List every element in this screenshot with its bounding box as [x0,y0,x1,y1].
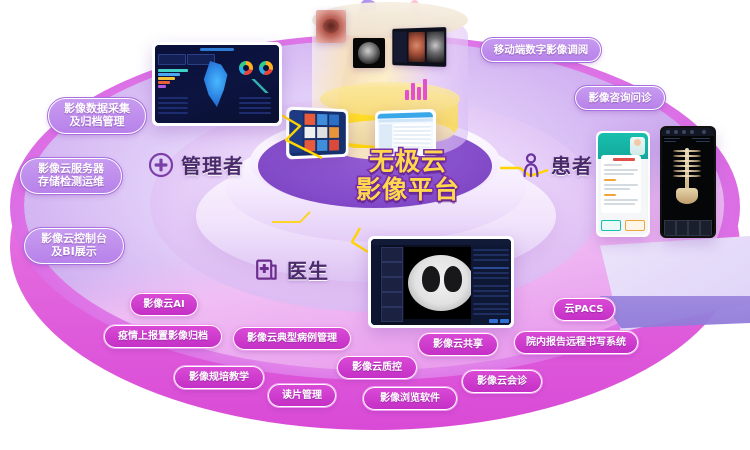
pill-line-2: 存储检测运维 [38,176,104,189]
pill-image-cloud-teleconsultation[interactable]: 影像云会诊 [462,370,542,393]
pill-line-1: 影像咨询问诊 [589,92,652,104]
doctor-pacs-screen[interactable] [368,236,514,328]
pill-image-data-acquisition[interactable]: 影像数据采集 及归档管理 [48,98,146,134]
pill-mobile-image-retrieval[interactable]: 移动端数字影像调阅 [481,38,601,62]
pill-reading-management[interactable]: 读片管理 [268,384,336,407]
endoscopy-thumbnail [316,10,346,43]
role-administrator[interactable]: 管理者 [148,150,244,179]
pill-intrahospital-remote-reporting[interactable]: 院内报告远程书写系统 [514,331,638,354]
pill-line-1: 影像云AI [143,299,184,311]
pill-line-1: 移动端数字影像调阅 [494,44,589,56]
pill-line-2: 及归档管理 [70,116,125,129]
pill-line-1: 影像云共享 [433,339,483,351]
cine-viewer-thumbnail [392,27,446,67]
pill-image-cloud-console-bi[interactable]: 影像云控制台 及BI展示 [24,228,124,264]
pill-imaging-residency-training[interactable]: 影像规培教学 [174,366,264,389]
pill-line-1: 读片管理 [282,390,322,402]
pill-line-1: 院内报告远程书写系统 [526,337,626,349]
ultrasound-thumbnail [353,38,385,68]
tower-bar-chart-icon [405,78,431,100]
platform-title-line2: 影像平台 [328,176,488,204]
infographic-canvas: 管理者 患者 医生 无极云 影像平台 影像数据采集 [0,0,750,450]
admin-bi-dashboard-screen[interactable] [152,42,282,126]
platform-title: 无极云 影像平台 [328,148,488,204]
pill-line-1: 云PACS [565,304,604,316]
pill-line-1: 影像浏览软件 [380,393,440,405]
pill-line-1: 影像云质控 [352,362,402,374]
role-label-doctor: 医生 [287,255,329,284]
pill-image-cloud-sharing[interactable]: 影像云共享 [418,333,498,356]
medical-record-icon [254,257,280,283]
role-label-administrator: 管理者 [181,150,244,179]
platform-title-line1: 无极云 [328,148,488,176]
pill-image-cloud-qc[interactable]: 影像云质控 [337,356,417,379]
pill-line-1: 影像云会诊 [477,376,527,388]
pill-line-1: 疫情上报置影像归档 [118,331,208,343]
pill-line-1: 影像规培教学 [189,372,249,384]
pill-line-1: 影像云典型病例管理 [247,333,337,345]
circle-plus-icon [148,152,174,178]
pill-cloud-pacs[interactable]: 云PACS [553,298,615,321]
pill-image-cloud-ai[interactable]: 影像云AI [130,293,198,316]
mobile-3d-image-viewer-phone[interactable] [660,126,716,238]
person-icon [518,152,544,178]
role-label-patient: 患者 [551,150,593,179]
pill-image-viewer-software[interactable]: 影像浏览软件 [363,387,457,410]
role-patient[interactable]: 患者 [518,150,593,179]
pill-image-cloud-server-ops[interactable]: 影像云服务器 存储检测运维 [20,158,122,194]
pill-line-2: 及BI展示 [51,246,96,259]
pill-typical-case-management[interactable]: 影像云典型病例管理 [233,327,351,350]
role-doctor[interactable]: 医生 [254,255,329,284]
pill-epidemic-report-archive[interactable]: 疫情上报置影像归档 [104,325,222,348]
pill-image-consultation[interactable]: 影像咨询问诊 [575,86,665,110]
patient-health-app-phone[interactable] [596,131,650,237]
